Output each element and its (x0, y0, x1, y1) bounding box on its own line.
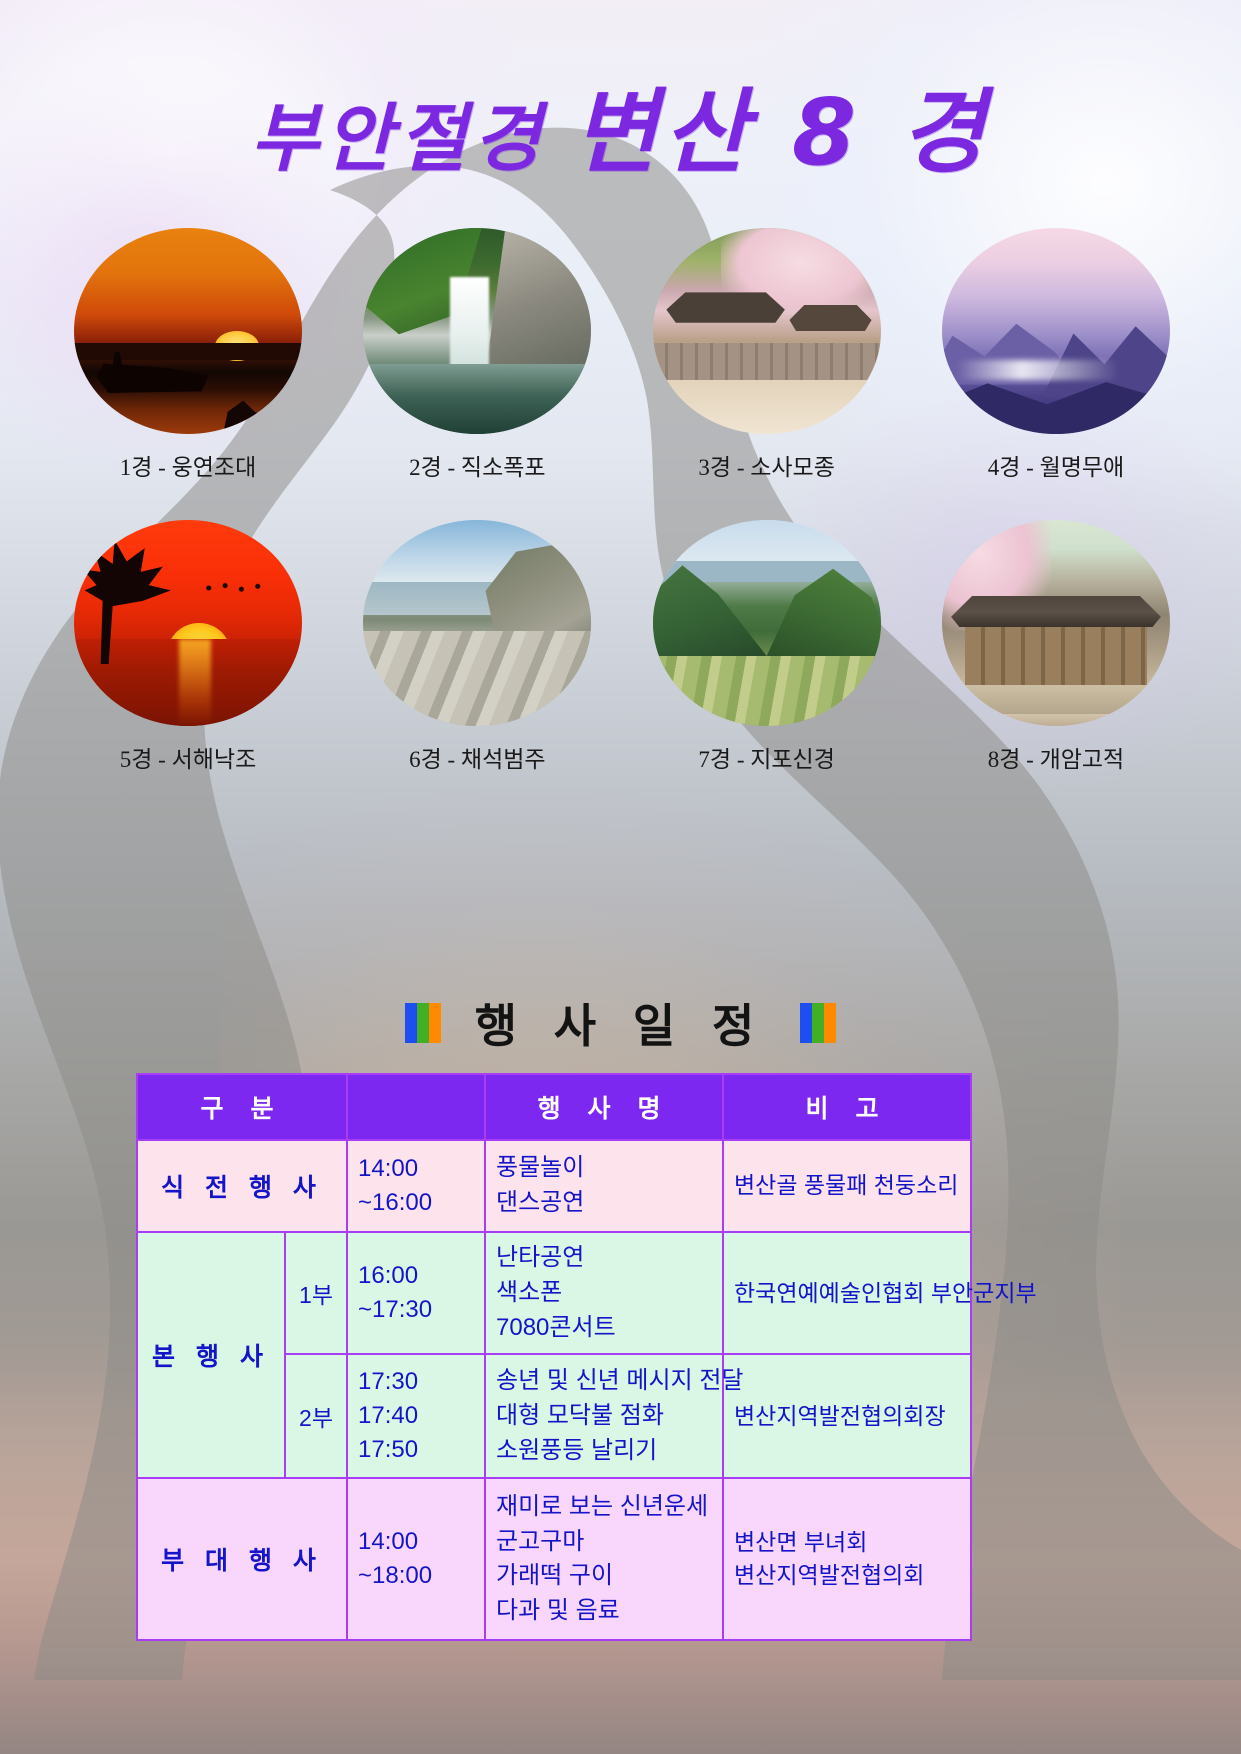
scene-item-8[interactable]: 8경 - 개암고적 (930, 520, 1182, 774)
table-row[interactable]: 부 대 행 사 14:00 ~18:00 재미로 보는 신년운세 군고구마 가래… (137, 1478, 971, 1640)
scene-caption-2: 2경 - 직소폭포 (351, 448, 603, 482)
row-time-lines: 17:30 17:40 17:50 (358, 1365, 474, 1467)
row-note: 변산지역발전협의회장 (723, 1354, 971, 1478)
red-sunset-pine-photo[interactable] (74, 520, 302, 726)
schedule-heading-text: 행 사 일 정 (475, 990, 767, 1056)
scene-item-6[interactable]: 6경 - 채석범주 (351, 520, 603, 774)
row-time: 16:00 ~17:30 (347, 1232, 485, 1354)
row-division-label: 본 행 사 (137, 1232, 285, 1478)
row-note-lines: 변산골 풍물패 천둥소리 (734, 1169, 960, 1202)
tricolor-bar-left-icon (405, 1003, 441, 1043)
row-division-label: 식 전 행 사 (137, 1140, 347, 1232)
table-row[interactable]: 본 행 사 1부 16:00 ~17:30 난타공연 색소폰 7080콘서트 (137, 1232, 971, 1354)
row-event-lines: 난타공연 색소폰 7080콘서트 (496, 1241, 712, 1345)
title-main: 변산 8 경 (573, 79, 991, 186)
rocky-shore-cliff-photo[interactable] (363, 520, 591, 726)
row-note: 변산골 풍물패 천둥소리 (723, 1140, 971, 1232)
schedule-table-wrapper: 구 분 행 사 명 비 고 식 전 행 사 14:00 ~16:00 (136, 1073, 972, 1641)
green-valley-photo[interactable] (653, 520, 881, 726)
scene-item-7[interactable]: 7경 - 지포신경 (641, 520, 893, 774)
scene-item-1[interactable]: 1경 - 웅연조대 (62, 228, 314, 482)
scene-item-5[interactable]: 5경 - 서해낙조 (62, 520, 314, 774)
scene-caption-4: 4경 - 월명무애 (930, 448, 1182, 482)
row-time: 17:30 17:40 17:50 (347, 1354, 485, 1478)
row-time: 14:00 ~18:00 (347, 1478, 485, 1640)
row-event-lines: 송년 및 신년 메시지 전달 대형 모닥불 점화 소원풍등 날리기 (496, 1364, 712, 1468)
row-event-list: 재미로 보는 신년운세 군고구마 가래떡 구이 다과 및 음료 (485, 1478, 723, 1640)
row-note-lines: 변산지역발전협의회장 (734, 1400, 960, 1433)
column-header-note: 비 고 (723, 1074, 971, 1140)
poster-title: 부안절경변산 8 경 (0, 58, 1241, 191)
column-header-time (347, 1074, 485, 1140)
scene-caption-6: 6경 - 채석범주 (351, 740, 603, 774)
scene-caption-3: 3경 - 소사모종 (641, 448, 893, 482)
row-note: 한국연예예술인협회 부안군지부 (723, 1232, 971, 1354)
scene-caption-1: 1경 - 웅연조대 (62, 448, 314, 482)
row-event-list: 난타공연 색소폰 7080콘서트 (485, 1232, 723, 1354)
misty-mountains-photo[interactable] (942, 228, 1170, 434)
row-time-lines: 14:00 ~18:00 (358, 1525, 474, 1593)
scene-caption-7: 7경 - 지포신경 (641, 740, 893, 774)
row-note: 변산면 부녀회 변산지역발전협의회 (723, 1478, 971, 1640)
row-division-label: 부 대 행 사 (137, 1478, 347, 1640)
column-header-division: 구 분 (137, 1074, 347, 1140)
scene-caption-8: 8경 - 개암고적 (930, 740, 1182, 774)
scene-item-2[interactable]: 2경 - 직소폭포 (351, 228, 603, 482)
scenic-photo-grid: 1경 - 웅연조대 2경 - 직소폭포 3경 - 소사모종 4경 - 월명무애 (62, 228, 1182, 812)
title-subtitle: 부안절경 (250, 96, 546, 182)
row-time-lines: 14:00 ~16:00 (358, 1152, 474, 1220)
schedule-table: 구 분 행 사 명 비 고 식 전 행 사 14:00 ~16:00 (136, 1073, 972, 1641)
hanok-temple-photo[interactable] (942, 520, 1170, 726)
scene-item-4[interactable]: 4경 - 월명무애 (930, 228, 1182, 482)
scenic-row-bottom: 5경 - 서해낙조 6경 - 채석범주 7경 - 지포신경 8경 - 개암고적 (62, 520, 1182, 774)
scene-caption-5: 5경 - 서해낙조 (62, 740, 314, 774)
row-time: 14:00 ~16:00 (347, 1140, 485, 1232)
scene-item-3[interactable]: 3경 - 소사모종 (641, 228, 893, 482)
sunset-harbor-photo[interactable] (74, 228, 302, 434)
row-note-lines: 한국연예예술인협회 부안군지부 (734, 1277, 960, 1310)
row-event-lines: 재미로 보는 신년운세 군고구마 가래떡 구이 다과 및 음료 (496, 1490, 712, 1629)
scenic-row-top: 1경 - 웅연조대 2경 - 직소폭포 3경 - 소사모종 4경 - 월명무애 (62, 228, 1182, 482)
row-event-list: 송년 및 신년 메시지 전달 대형 모닥불 점화 소원풍등 날리기 (485, 1354, 723, 1478)
column-header-event: 행 사 명 (485, 1074, 723, 1140)
row-event-lines: 풍물놀이 댄스공연 (496, 1151, 712, 1221)
row-part-label: 1부 (285, 1232, 347, 1354)
tricolor-bar-right-icon (800, 1003, 836, 1043)
row-event-list: 풍물놀이 댄스공연 (485, 1140, 723, 1232)
row-note-lines: 변산면 부녀회 변산지역발전협의회 (734, 1526, 960, 1593)
row-part-label: 2부 (285, 1354, 347, 1478)
temple-cherry-blossom-photo[interactable] (653, 228, 881, 434)
waterfall-photo[interactable] (363, 228, 591, 434)
row-time-lines: 16:00 ~17:30 (358, 1259, 474, 1327)
schedule-heading: 행 사 일 정 (0, 990, 1241, 1056)
poster-canvas: 부안절경변산 8 경 1경 - 웅연조대 2경 - 직소폭포 3경 - (0, 0, 1241, 1754)
table-header-row: 구 분 행 사 명 비 고 (137, 1074, 971, 1140)
table-row[interactable]: 식 전 행 사 14:00 ~16:00 풍물놀이 댄스공연 (137, 1140, 971, 1232)
